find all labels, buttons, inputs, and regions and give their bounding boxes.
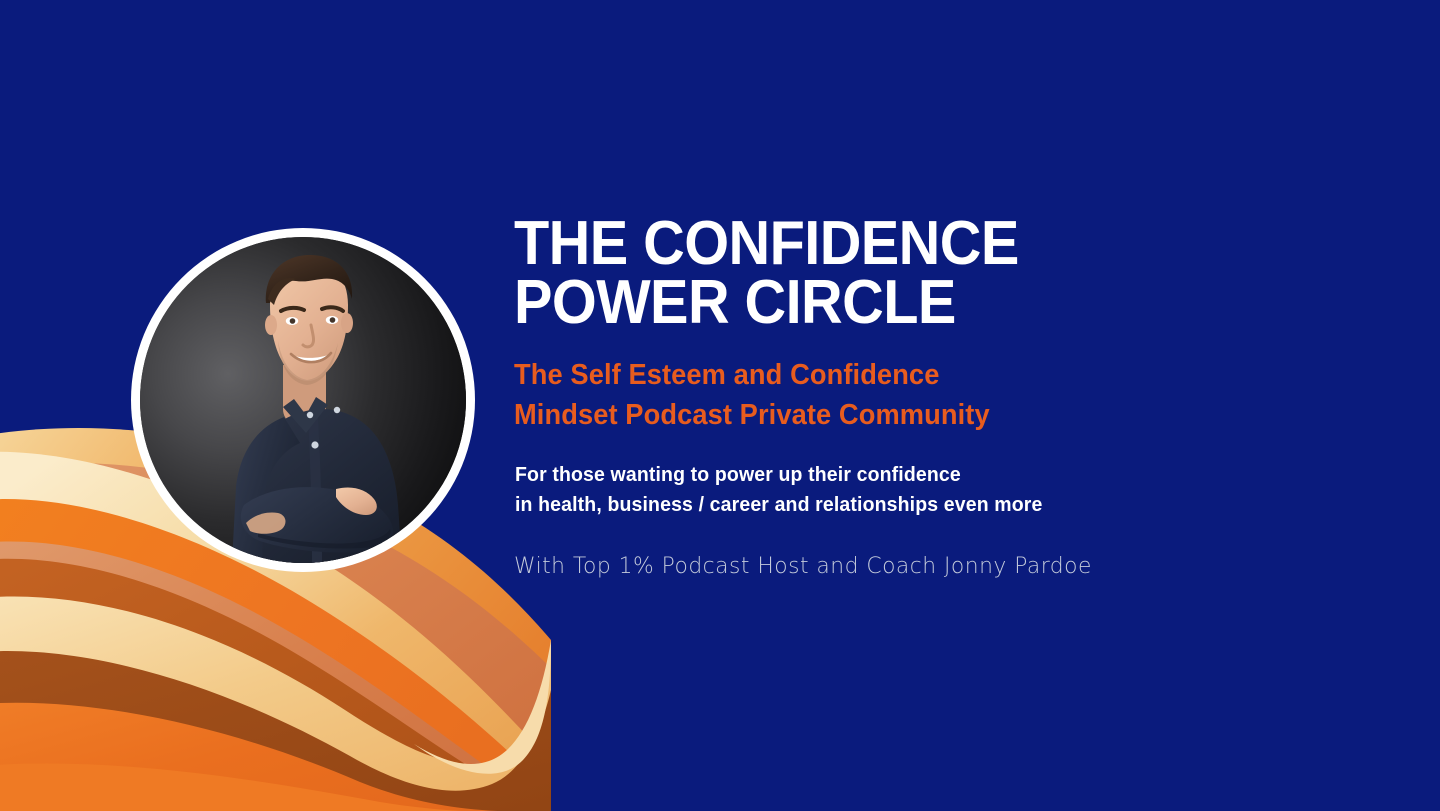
slide-canvas: THE CONFIDENCE POWER CIRCLE The Self Est…	[0, 0, 1440, 811]
text-content-block: THE CONFIDENCE POWER CIRCLE The Self Est…	[514, 214, 1334, 580]
portrait-disc	[140, 237, 466, 563]
host-credit: With Top 1% Podcast Host and Coach Jonny…	[514, 552, 1309, 580]
portrait-figure-illustration	[140, 237, 466, 563]
subtitle: The Self Esteem and Confidence Mindset P…	[514, 355, 1285, 435]
page-title: THE CONFIDENCE POWER CIRCLE	[514, 214, 1277, 332]
host-portrait	[131, 228, 475, 572]
tagline: For those wanting to power up their conf…	[515, 460, 1293, 520]
